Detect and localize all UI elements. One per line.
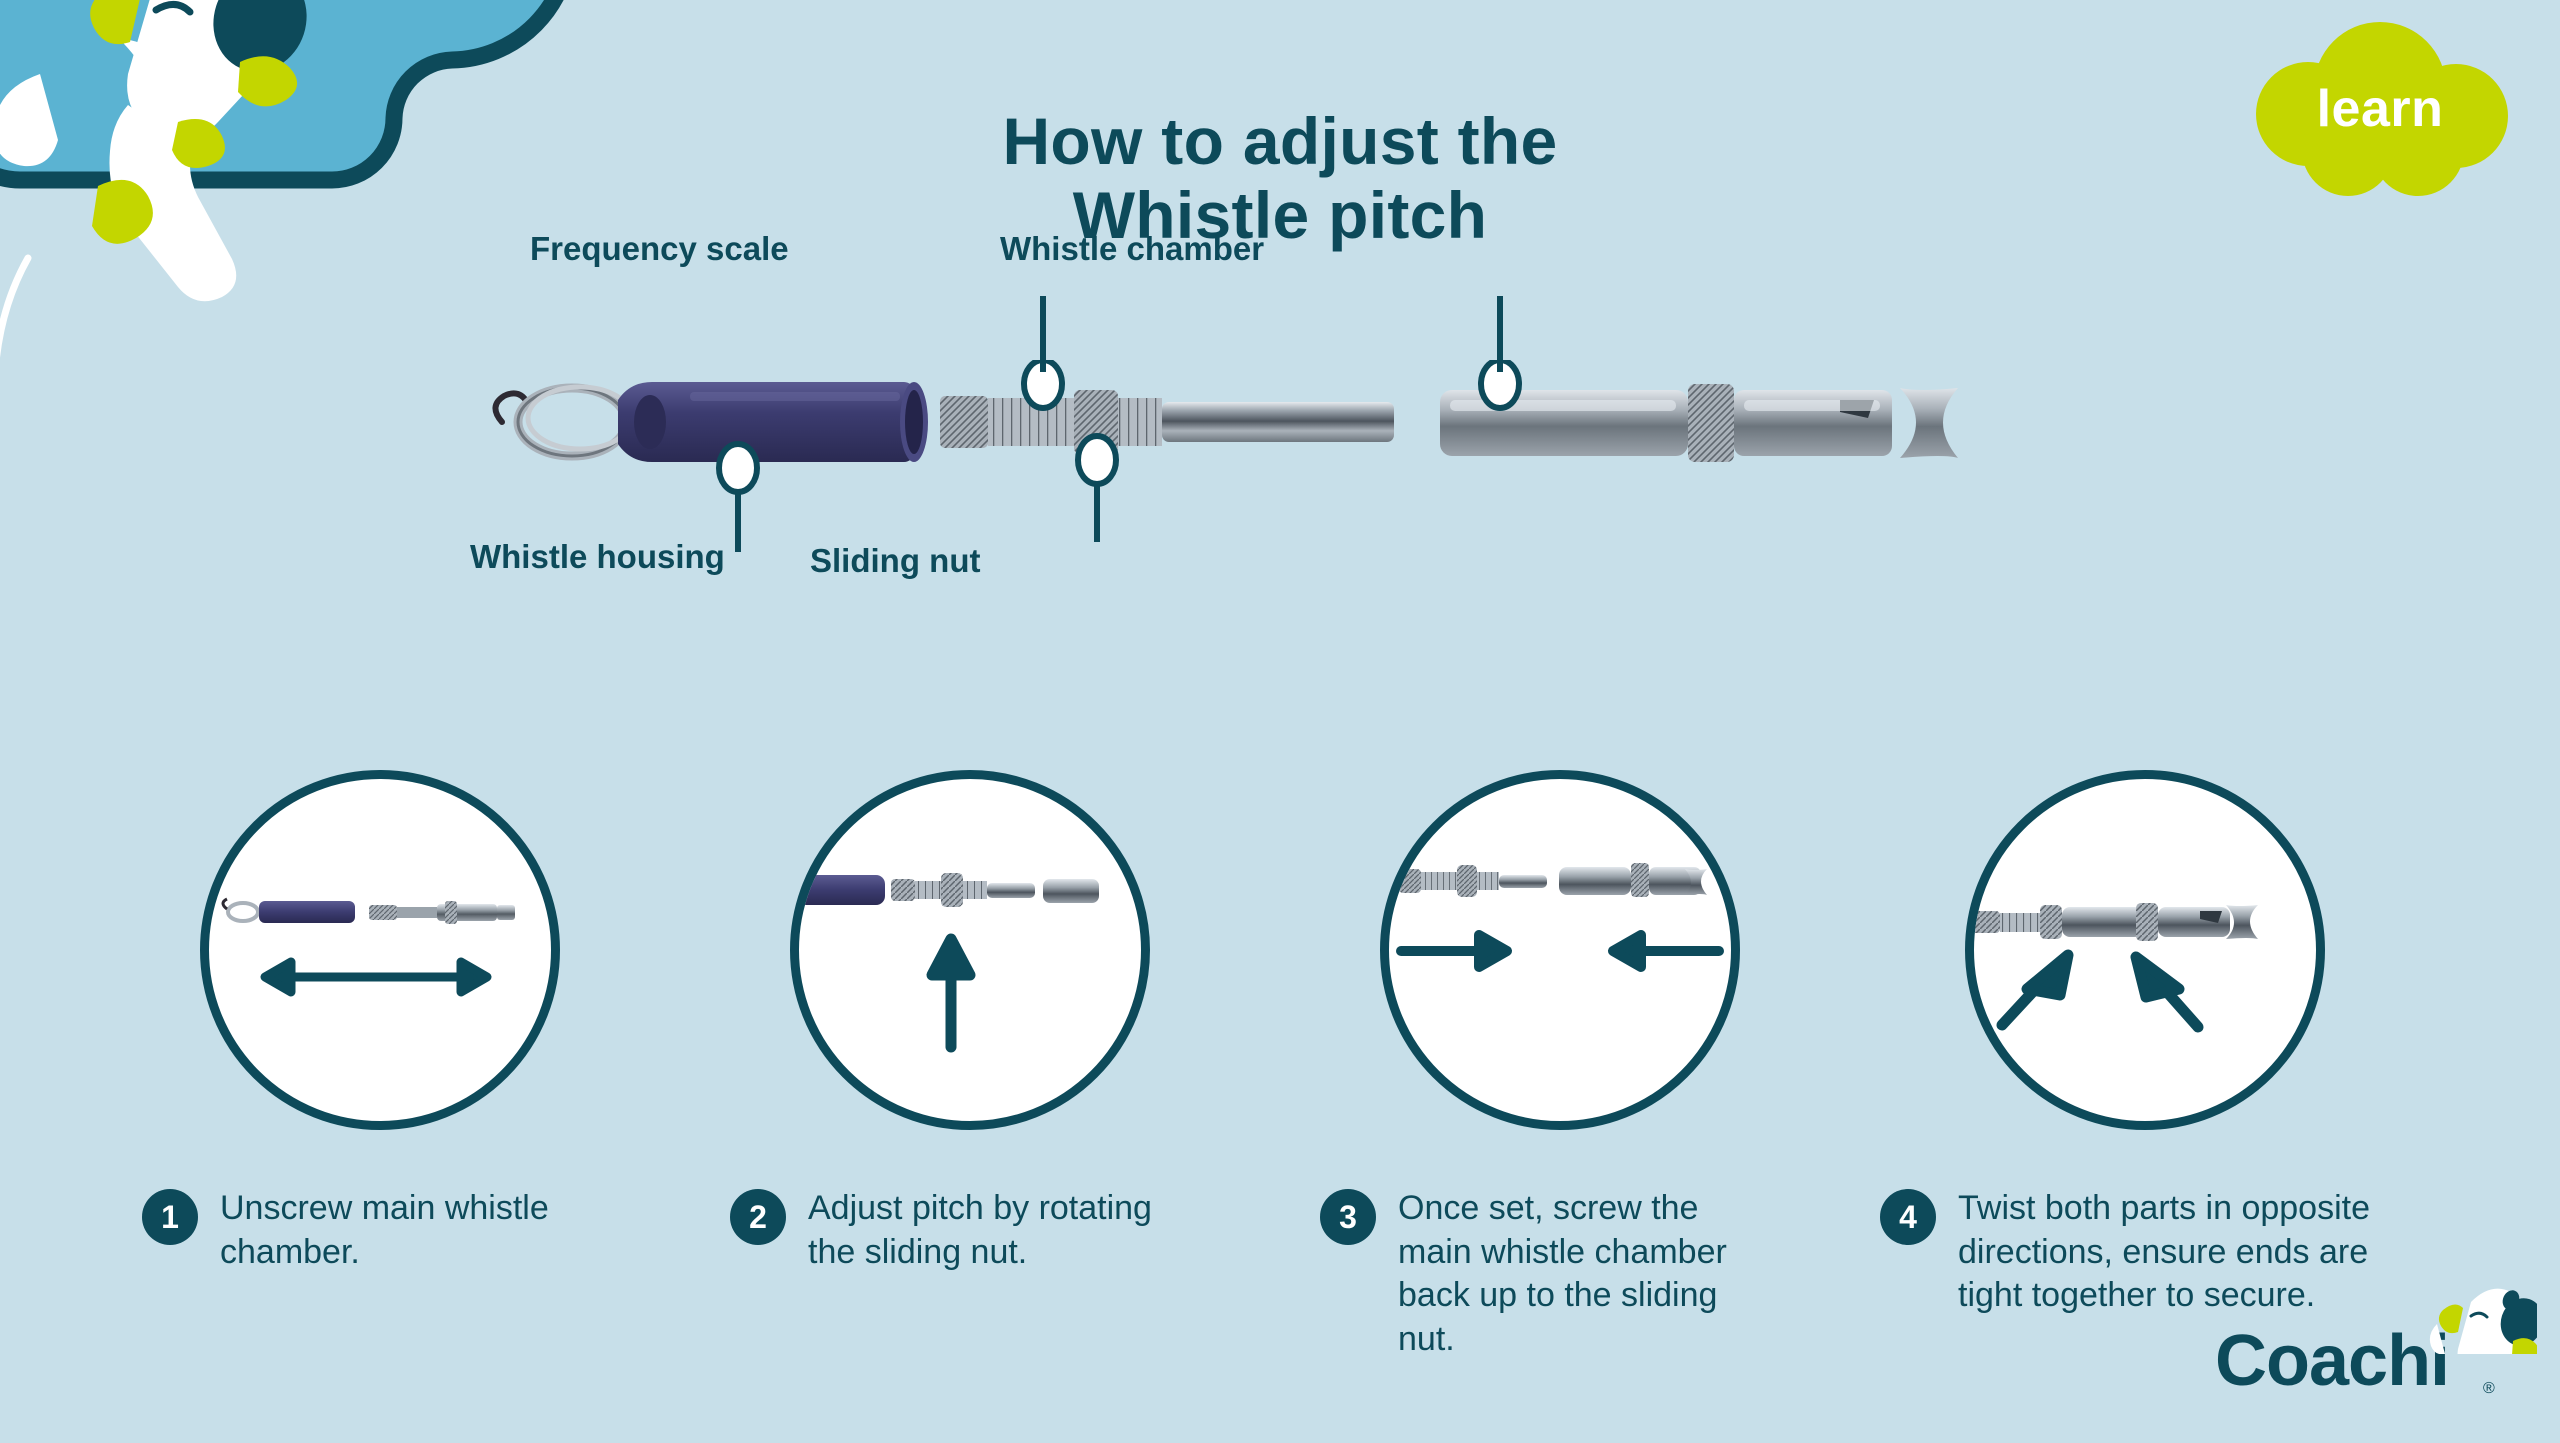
step-illustration-3: [1380, 770, 1740, 1130]
whistle-split-double-arrow-icon: [209, 779, 551, 1121]
coachi-logo[interactable]: Coachi ®: [2215, 1300, 2545, 1420]
callout-label-sliding-nut: Sliding nut: [810, 542, 980, 580]
step-number-badge-1: 1: [142, 1189, 198, 1245]
step-list: 1 Unscrew main whistle chamber. 2 Adjust…: [0, 1175, 2560, 1405]
two-diagonal-arrows-up-icon: [1974, 779, 2316, 1121]
step-text-4: Twist both parts in opposite directions,…: [1958, 1187, 2440, 1318]
whistle-diagram: Frequency scale Whistle chamber Whistle …: [480, 360, 2130, 690]
learn-badge-label: learn: [2230, 10, 2530, 200]
step-item-3: 3 Once set, screw the main whistle chamb…: [1320, 1187, 1750, 1361]
step-text-1: Unscrew main whistle chamber.: [220, 1187, 562, 1274]
step-text-2: Adjust pitch by rotating the sliding nut…: [808, 1187, 1170, 1274]
step-number-badge-3: 3: [1320, 1189, 1376, 1245]
step-number-badge-4: 4: [1880, 1189, 1936, 1245]
learn-badge[interactable]: learn: [2230, 10, 2530, 200]
coachi-trademark: ®: [2483, 1380, 2495, 1398]
step-item-4: 4 Twist both parts in opposite direction…: [1880, 1187, 2440, 1318]
two-arrows-converging-icon: [1389, 779, 1731, 1121]
step-illustration-4: [1965, 770, 2325, 1130]
step-illustrations: [0, 760, 2560, 1180]
step-item-2: 2 Adjust pitch by rotating the sliding n…: [730, 1187, 1170, 1274]
step-item-1: 1 Unscrew main whistle chamber.: [142, 1187, 562, 1274]
coachi-dog-icon: [2427, 1284, 2537, 1354]
step-illustration-2: [790, 770, 1150, 1130]
step-illustration-1: [200, 770, 560, 1130]
callout-leaders-upper: [480, 100, 2130, 460]
coachi-wordmark: Coachi: [2215, 1320, 2449, 1402]
callout-label-frequency-scale: Frequency scale: [530, 230, 789, 268]
callout-label-whistle-chamber: Whistle chamber: [1000, 230, 1264, 268]
step-number-badge-2: 2: [730, 1189, 786, 1245]
step-text-3: Once set, screw the main whistle chamber…: [1398, 1187, 1750, 1361]
sliding-nut-up-arrow-icon: [799, 779, 1141, 1121]
infographic-canvas: learn How to adjust the Whistle pitch: [0, 0, 2560, 1443]
callout-label-whistle-housing: Whistle housing: [470, 538, 725, 576]
motion-lines-icon: [0, 258, 28, 368]
